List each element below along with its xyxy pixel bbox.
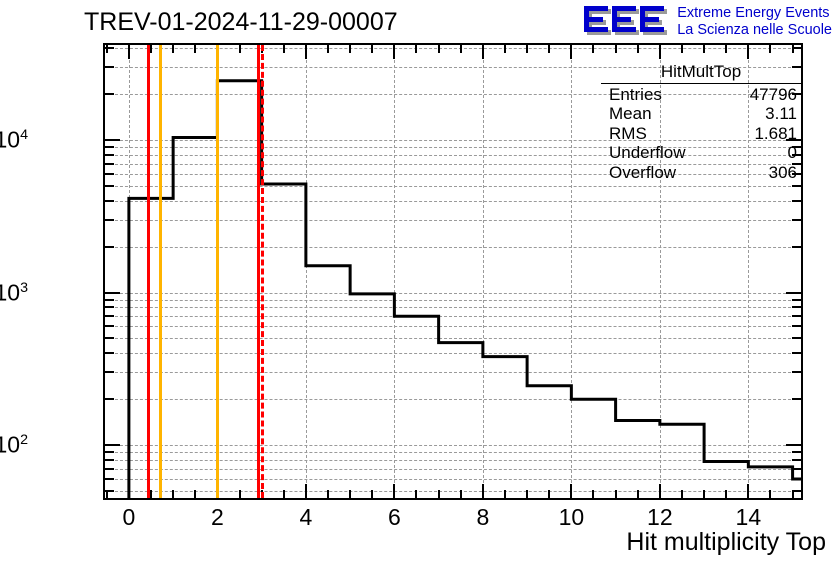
stats-rows: Entries47796Mean3.11RMS1.681Underflow0Ov… (601, 85, 801, 183)
y-axis-tick (105, 325, 114, 327)
stats-row-label: Underflow (609, 143, 686, 163)
x-axis-title: Hit multiplicity Top (626, 528, 826, 557)
y-axis-label: 104 (0, 127, 28, 154)
x-axis-tick (305, 484, 307, 498)
eee-logo-text: Extreme Energy Events La Scienza nelle S… (677, 5, 832, 39)
y-axis-tick (105, 299, 114, 301)
stats-row-value: 0 (788, 143, 797, 163)
y-axis-tick (105, 478, 114, 480)
x-axis-label: 10 (559, 504, 585, 531)
y-axis-tick (792, 451, 801, 453)
y-axis-tick (792, 352, 801, 354)
stats-row-value: 306 (769, 163, 797, 183)
y-axis-label: 102 (0, 432, 28, 459)
x-axis-tick (615, 45, 617, 53)
x-axis-tick (703, 45, 705, 53)
marker-vline-ff0000-solid (257, 45, 260, 498)
x-axis-tick (371, 45, 373, 53)
x-axis-tick (659, 45, 661, 59)
marker-vline-ff0000-dashed (261, 45, 264, 498)
stats-row-value: 47796 (750, 85, 797, 105)
y-axis-tick (792, 299, 801, 301)
y-axis-tick (105, 306, 114, 308)
y-axis-tick (105, 246, 114, 248)
y-axis-tick (792, 337, 801, 339)
y-axis-tick (105, 444, 120, 446)
y-axis-tick (105, 468, 114, 470)
x-axis-tick (725, 45, 727, 53)
marker-vline-ff0000-solid (147, 45, 150, 498)
x-axis-label: 6 (388, 504, 401, 531)
y-axis-tick (792, 468, 801, 470)
x-axis-tick (637, 45, 639, 53)
x-axis-tick (172, 45, 174, 53)
x-axis-tick (725, 490, 727, 498)
x-axis-tick (239, 490, 241, 498)
stats-row-label: Overflow (609, 163, 676, 183)
x-axis-tick (349, 490, 351, 498)
y-axis-tick (105, 398, 114, 400)
x-axis-tick (283, 45, 285, 53)
stats-row: Mean3.11 (601, 104, 801, 124)
x-axis-tick (703, 490, 705, 498)
x-axis-tick (393, 484, 395, 498)
y-axis-tick (105, 163, 114, 165)
y-axis-tick (792, 398, 801, 400)
x-axis-tick (106, 45, 108, 53)
x-axis-tick (659, 484, 661, 498)
y-axis-tick (105, 315, 114, 317)
x-axis-tick (460, 45, 462, 53)
y-axis-tick (792, 478, 801, 480)
x-axis-tick (239, 45, 241, 53)
y-axis-tick (105, 200, 114, 202)
x-axis-tick (150, 490, 152, 498)
stats-box: HitMultTop Entries47796Mean3.11RMS1.681U… (601, 62, 801, 183)
y-axis-tick (792, 459, 801, 461)
y-axis-tick (105, 139, 120, 141)
y-label-exponent: 2 (20, 432, 28, 448)
x-axis-tick (592, 45, 594, 53)
y-label-mantissa: 10 (0, 432, 20, 458)
x-axis-tick (548, 45, 550, 53)
y-axis-tick (105, 371, 114, 373)
x-axis-tick (747, 45, 749, 59)
x-axis-tick (570, 45, 572, 59)
x-axis-tick (415, 45, 417, 53)
x-axis-tick (637, 490, 639, 498)
y-axis-tick (105, 451, 114, 453)
x-axis-tick (128, 484, 130, 498)
stats-row-label: Entries (609, 85, 662, 105)
y-label-mantissa: 10 (0, 127, 20, 153)
stats-box-title: HitMultTop (601, 62, 801, 84)
x-axis-label: 12 (647, 504, 673, 531)
x-axis-tick (526, 45, 528, 53)
x-axis-tick (769, 45, 771, 53)
y-axis-tick (105, 173, 114, 175)
x-axis-label: 0 (122, 504, 135, 531)
stats-row-label: RMS (609, 124, 647, 144)
y-axis-tick (792, 371, 801, 373)
y-axis-tick (792, 185, 801, 187)
y-axis-tick (105, 154, 114, 156)
y-axis-tick (792, 200, 801, 202)
y-axis-tick (792, 306, 801, 308)
stats-row: RMS1.681 (601, 124, 801, 144)
x-axis-label: 14 (736, 504, 762, 531)
y-axis-tick (105, 219, 114, 221)
x-axis-tick (172, 490, 174, 498)
x-axis-tick (327, 490, 329, 498)
y-axis-tick (105, 66, 114, 68)
x-axis-tick (592, 490, 594, 498)
x-axis-label: 4 (299, 504, 312, 531)
x-axis-tick (283, 490, 285, 498)
x-axis-tick (150, 45, 152, 53)
stats-row: Entries47796 (601, 85, 801, 105)
x-axis-tick (570, 484, 572, 498)
y-label-exponent: 3 (20, 279, 28, 295)
y-axis-label: 103 (0, 279, 28, 306)
x-axis-tick (747, 484, 749, 498)
y-axis-tick (105, 337, 114, 339)
logo-line-1: Extreme Energy Events (677, 5, 832, 22)
y-axis-tick (105, 146, 114, 148)
x-axis-tick (460, 490, 462, 498)
marker-vline-ffb400-solid (159, 45, 162, 498)
x-axis-tick (106, 490, 108, 498)
y-axis-tick (105, 352, 114, 354)
x-axis-tick (438, 45, 440, 53)
y-axis-tick (792, 219, 801, 221)
eee-logo: Extreme Energy Events La Scienza nelle S… (581, 2, 832, 42)
x-axis-tick (438, 490, 440, 498)
x-axis-tick (504, 45, 506, 53)
y-axis-tick (786, 292, 801, 294)
x-axis-tick (393, 45, 395, 59)
x-axis-tick (194, 45, 196, 53)
x-axis-tick (482, 45, 484, 59)
x-axis-tick (371, 490, 373, 498)
y-axis-tick (105, 185, 114, 187)
eee-logo-mark (581, 4, 671, 40)
x-axis-label: 2 (211, 504, 224, 531)
x-axis-tick (792, 490, 794, 498)
stats-row-value: 3.11 (765, 104, 797, 124)
stats-row-value: 1.681 (754, 124, 797, 144)
x-axis-tick (305, 45, 307, 59)
logo-line-2: La Scienza nelle Scuole (677, 22, 832, 39)
x-axis-tick (349, 45, 351, 53)
x-axis-tick (681, 45, 683, 53)
page-title: TREV-01-2024-11-29-00007 (84, 8, 398, 37)
stats-row: Underflow0 (601, 143, 801, 163)
x-axis-tick (504, 490, 506, 498)
x-axis-tick (615, 490, 617, 498)
x-axis-tick (415, 490, 417, 498)
x-axis-tick (128, 45, 130, 59)
x-axis-tick (681, 490, 683, 498)
y-axis-tick (105, 459, 114, 461)
y-axis-tick (786, 444, 801, 446)
y-axis-tick (105, 292, 120, 294)
x-axis-label: 8 (476, 504, 489, 531)
x-axis-tick (526, 490, 528, 498)
stats-row: Overflow306 (601, 163, 801, 183)
x-axis-tick (194, 490, 196, 498)
y-axis-tick (792, 315, 801, 317)
x-axis-tick (327, 45, 329, 53)
x-axis-tick (792, 45, 794, 53)
y-axis-tick (105, 93, 114, 95)
stats-row-label: Mean (609, 104, 652, 124)
y-label-mantissa: 10 (0, 279, 20, 305)
x-axis-tick (482, 484, 484, 498)
y-axis-tick (792, 246, 801, 248)
y-axis-tick (792, 325, 801, 327)
x-axis-tick (769, 490, 771, 498)
y-label-exponent: 4 (20, 127, 28, 143)
marker-vline-ffb400-solid (216, 45, 219, 498)
x-axis-tick (548, 490, 550, 498)
